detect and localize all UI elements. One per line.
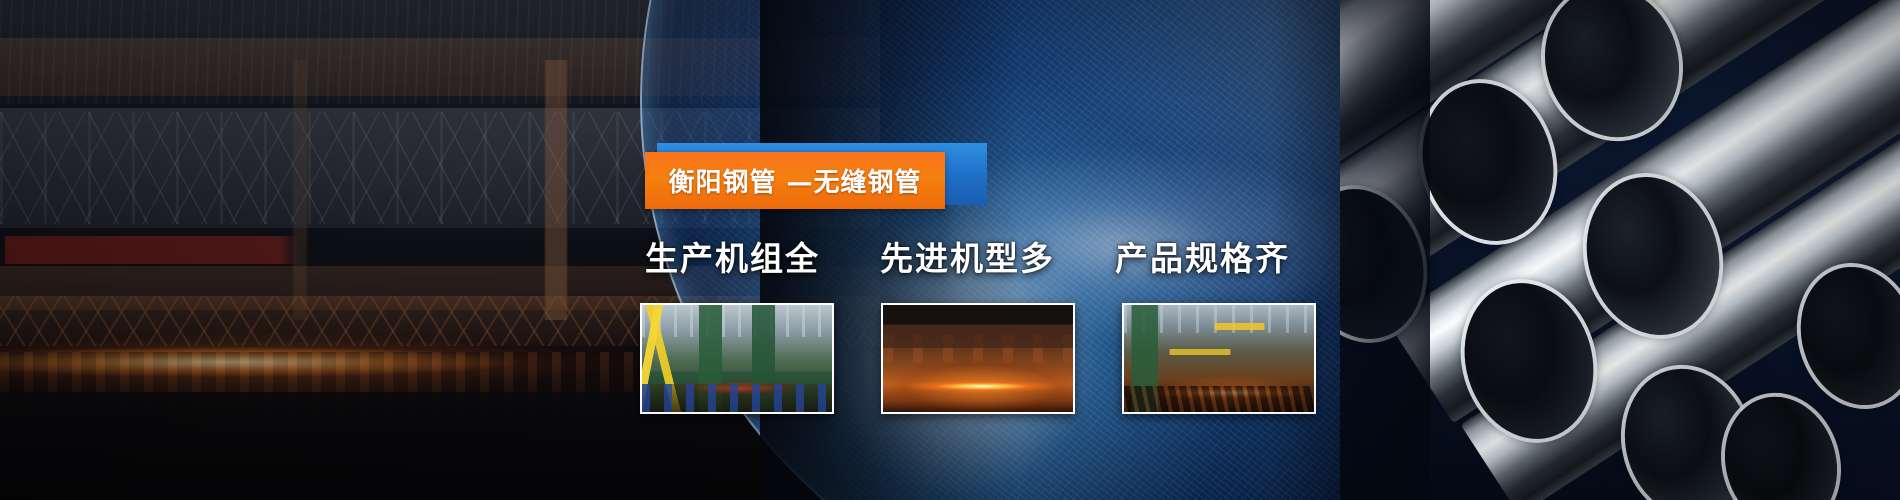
brand-tag-label: 衡阳钢管 —无缝钢管 (668, 162, 921, 199)
thumbnail-image (1124, 305, 1314, 412)
thumbnail-mill-hall-hot-rod[interactable] (1122, 303, 1316, 414)
thumbnail-rolling-mill-green-machinery[interactable] (640, 303, 834, 414)
thumbnail-image (642, 305, 832, 412)
right-panel-seam (1270, 0, 1430, 500)
thumbnail-row (640, 303, 1316, 414)
slogan-item-2: 先进机型多 (880, 232, 1055, 280)
brand-tag-orange-plate: 衡阳钢管 —无缝钢管 (645, 152, 945, 209)
thumbnail-hot-billet-glowing[interactable] (881, 303, 1075, 414)
slogan-item-3: 产品规格齐 (1115, 232, 1290, 280)
slogan-row: 生产机组全 先进机型多 产品规格齐 (645, 232, 1290, 280)
slogan-item-1: 生产机组全 (645, 232, 820, 280)
promo-banner: 衡阳钢管 —无缝钢管 生产机组全 先进机型多 产品规格齐 (0, 0, 1900, 500)
thumbnail-image (883, 305, 1073, 412)
